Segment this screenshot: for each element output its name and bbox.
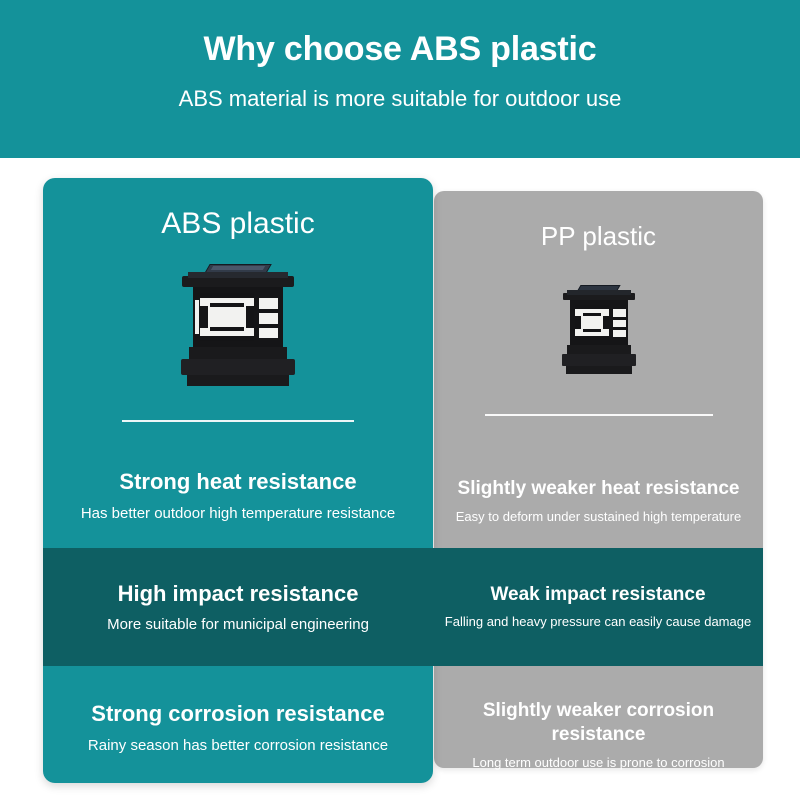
abs-solar-post-lamp-icon — [168, 262, 308, 390]
pp-feature-corrosion-desc: Long term outdoor use is prone to corros… — [444, 755, 753, 772]
pp-feature-corrosion: Slightly weaker corrosion resistance Lon… — [434, 699, 763, 771]
abs-plastic-card: ABS plastic — [43, 178, 433, 783]
abs-card-title: ABS plastic — [43, 206, 433, 242]
abs-feature-corrosion: Strong corrosion resistance Rainy season… — [43, 700, 433, 755]
pp-feature-heat: Slightly weaker heat resistance Easy to … — [434, 477, 763, 526]
abs-feature-impact: High impact resistance More suitable for… — [43, 548, 433, 666]
abs-feature-corrosion-title: Strong corrosion resistance — [53, 700, 423, 728]
pp-feature-heat-title: Slightly weaker heat resistance — [444, 477, 753, 501]
impact-resistance-band: High impact resistance More suitable for… — [43, 548, 763, 666]
comparison-section: PP plastic — [0, 158, 800, 800]
abs-feature-heat-desc: Has better outdoor high temperature resi… — [53, 504, 423, 524]
abs-feature-heat: Strong heat resistance Has better outdoo… — [43, 468, 433, 523]
abs-card-header: ABS plastic — [43, 206, 433, 242]
pp-feature-heat-desc: Easy to deform under sustained high temp… — [444, 509, 753, 526]
pp-feature-impact-desc: Falling and heavy pressure can easily ca… — [445, 614, 751, 631]
page-subtitle: ABS material is more suitable for outdoo… — [0, 85, 800, 113]
header-banner: Why choose ABS plastic ABS material is m… — [0, 0, 800, 158]
abs-feature-impact-desc: More suitable for municipal engineering — [107, 615, 369, 635]
pp-feature-corrosion-title: Slightly weaker corrosion resistance — [444, 699, 753, 747]
page-title: Why choose ABS plastic — [0, 28, 800, 71]
abs-divider — [122, 420, 354, 422]
pp-product-image — [553, 283, 645, 383]
pp-plastic-card: PP plastic — [434, 191, 763, 768]
pp-divider — [485, 414, 713, 416]
pp-feature-impact: Weak impact resistance Falling and heavy… — [433, 548, 763, 666]
pp-solar-post-lamp-icon — [553, 283, 645, 383]
abs-product-image — [168, 262, 308, 390]
abs-feature-corrosion-desc: Rainy season has better corrosion resist… — [53, 736, 423, 756]
pp-card-title: PP plastic — [434, 221, 763, 252]
pp-feature-impact-title: Weak impact resistance — [490, 583, 705, 607]
infographic-page: Why choose ABS plastic ABS material is m… — [0, 0, 800, 800]
abs-feature-heat-title: Strong heat resistance — [53, 468, 423, 496]
pp-card-header: PP plastic — [434, 221, 763, 252]
abs-feature-impact-title: High impact resistance — [118, 580, 359, 608]
